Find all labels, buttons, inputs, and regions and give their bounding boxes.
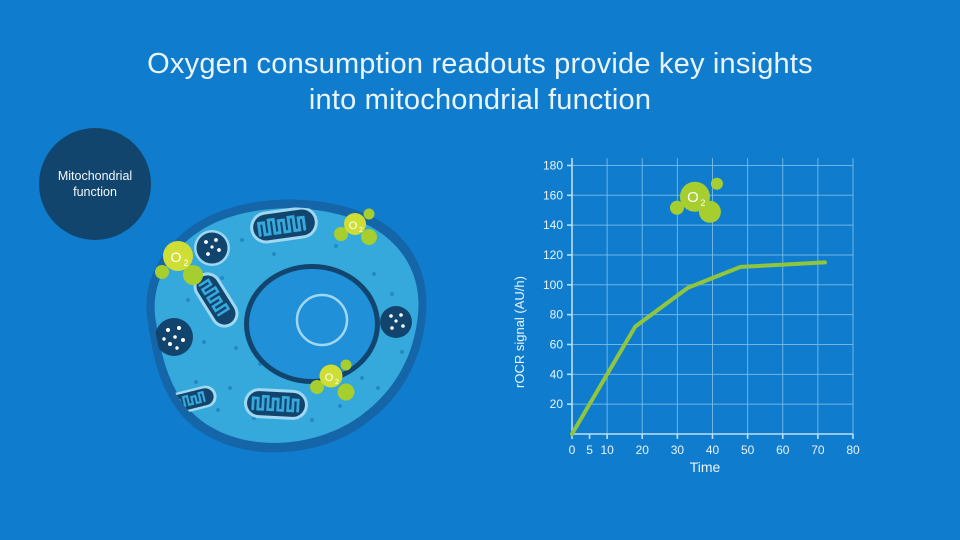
page-title: Oxygen consumption readouts provide key … [0, 46, 960, 118]
oxygen-label: O [349, 220, 358, 232]
x-tick-label: 80 [846, 443, 860, 457]
nucleus [244, 264, 380, 384]
x-tick-label: 0 [569, 443, 576, 457]
x-tick-label: 50 [741, 443, 755, 457]
title-line-1: Oxygen consumption readouts provide key … [0, 46, 960, 82]
chart-x-axis-label: Time [690, 459, 721, 475]
badge-label-line-2: function [73, 185, 117, 199]
title-line-2: into mitochondrial function [0, 82, 960, 118]
y-tick-label: 60 [550, 337, 564, 351]
oxygen-label: O [325, 372, 334, 384]
oxygen-label: O [171, 249, 182, 265]
chart-y-axis-label: rOCR signal (AU/h) [512, 276, 527, 388]
chart-gridlines [572, 158, 853, 434]
oxygen-atom [711, 178, 723, 190]
oxygen-subscript: 2 [700, 198, 705, 208]
y-tick-label: 160 [543, 188, 563, 202]
x-tick-label: 20 [636, 443, 650, 457]
badge-label-line-1: Mitochondrial [58, 169, 132, 183]
x-tick-label: 60 [776, 443, 790, 457]
oxygen-subscript: 2 [359, 227, 363, 234]
cell-illustration: O 2 O 2 O 2 [126, 182, 436, 462]
x-tick-label: 30 [671, 443, 685, 457]
y-tick-label: 140 [543, 218, 563, 232]
vesicle [380, 306, 412, 338]
vesicle [155, 318, 193, 356]
x-tick-label: 5 [586, 443, 593, 457]
oxygen-label: O [687, 189, 699, 206]
y-tick-label: 40 [550, 367, 564, 381]
chart-annotations: O2 [670, 178, 723, 223]
oxygen-subscript: 2 [335, 379, 339, 386]
y-tick-label: 80 [550, 308, 564, 322]
rocr-signal-chart: rOCR signal (AU/h) Time 2040608010012014… [505, 142, 875, 482]
y-tick-label: 100 [543, 278, 563, 292]
mitochondrion [243, 387, 308, 420]
chart-series [572, 262, 825, 434]
x-tick-label: 70 [811, 443, 825, 457]
oxygen-subscript: 2 [183, 258, 188, 268]
y-tick-label: 120 [543, 248, 563, 262]
x-tick-label: 10 [600, 443, 614, 457]
x-tick-label: 40 [706, 443, 720, 457]
series-line [572, 262, 825, 434]
y-tick-label: 180 [543, 158, 563, 172]
y-tick-label: 20 [550, 397, 564, 411]
slide-canvas: Oxygen consumption readouts provide key … [0, 0, 960, 540]
vesicle [194, 230, 230, 266]
